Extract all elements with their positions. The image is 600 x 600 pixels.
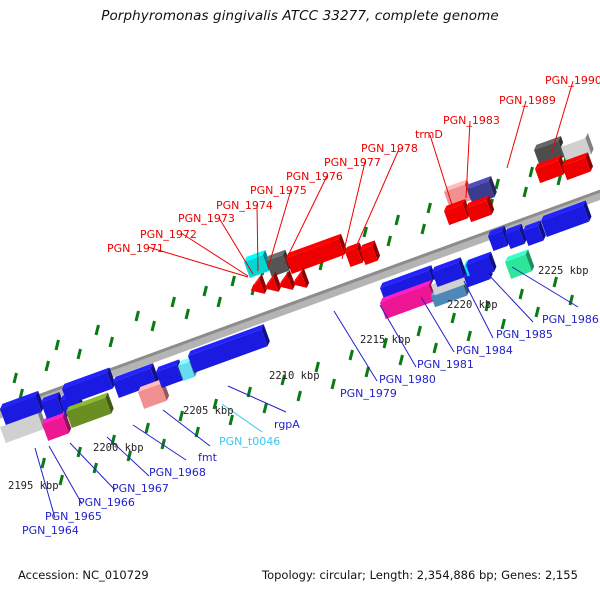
genome-map-viewer: Porphyromonas gingivalis ATCC 33277, com… [0, 0, 600, 600]
leader-line-forward [507, 101, 526, 168]
status-bar: Accession: NC_010729 Topology: circular;… [0, 568, 600, 588]
gene-label-pgn_1968: PGN_1968 [149, 467, 206, 478]
gene-label-pgn_1980: PGN_1980 [379, 374, 436, 385]
leader-line-forward [466, 121, 470, 198]
gene-label-pgn_1989: PGN_1989 [499, 95, 556, 106]
gene-label-pgn_1974: PGN_1974 [216, 200, 273, 211]
leader-line-forward [257, 205, 258, 271]
leader-line-forward [219, 218, 253, 274]
accession-text: Accession: NC_010729 [18, 568, 149, 582]
gene-label-pgn_1967: PGN_1967 [112, 483, 169, 494]
leader-line-forward [430, 135, 452, 205]
gene-label-pgn_1986: PGN_1986 [542, 314, 599, 325]
gene-label-pgn_1981: PGN_1981 [417, 359, 474, 370]
coordinate-label-2200: 2200 kbp [93, 443, 144, 454]
gene-label-trmd: trmD [415, 129, 443, 140]
gene-label-pgn_1984: PGN_1984 [456, 345, 513, 356]
gene-label-pgn_1978: PGN_1978 [361, 143, 418, 154]
gene-label-pgn_1975: PGN_1975 [250, 185, 307, 196]
leader-lines-forward [148, 81, 573, 277]
leader-line-forward [551, 81, 573, 155]
gene-label-pgn_1979: PGN_1979 [340, 388, 397, 399]
coordinate-label-2215: 2215 kbp [360, 335, 411, 346]
gene-label-fmt: fmt [198, 452, 217, 463]
gene-label-pgn_t0046: PGN_t0046 [219, 436, 280, 447]
leader-line-reverse [228, 386, 286, 412]
coordinate-label-2220: 2220 kbp [447, 300, 498, 311]
leader-line-reverse [487, 273, 533, 322]
leader-line-reverse [334, 311, 377, 381]
gene-label-pgn_1976: PGN_1976 [286, 171, 343, 182]
gene-label-pgn_1973: PGN_1973 [178, 213, 235, 224]
gene-label-pgn_1972: PGN_1972 [140, 229, 197, 240]
coordinate-label-2195: 2195 kbp [8, 481, 59, 492]
coordinate-label-2205: 2205 kbp [183, 406, 234, 417]
gene-label-pgn_1983: PGN_1983 [443, 115, 500, 126]
gene-label-pgn_1964: PGN_1964 [22, 525, 79, 536]
gene-label-pgn_1990: PGN_1990 [545, 75, 600, 86]
coordinate-label-2225: 2225 kbp [538, 266, 589, 277]
gene-label-pgn_1966: PGN_1966 [78, 497, 135, 508]
leader-line-forward [342, 162, 365, 259]
gene-label-pgn_1977: PGN_1977 [324, 157, 381, 168]
gene-label-pgn_1965: PGN_1965 [45, 511, 102, 522]
gene-label-pgn_1985: PGN_1985 [496, 329, 553, 340]
topology-text: Topology: circular; Length: 2,354,886 bp… [262, 568, 578, 582]
gene-label-pgn_1971: PGN_1971 [107, 243, 164, 254]
gene-label-rgpa: rgpA [274, 419, 300, 430]
coordinate-label-2210: 2210 kbp [269, 371, 320, 382]
